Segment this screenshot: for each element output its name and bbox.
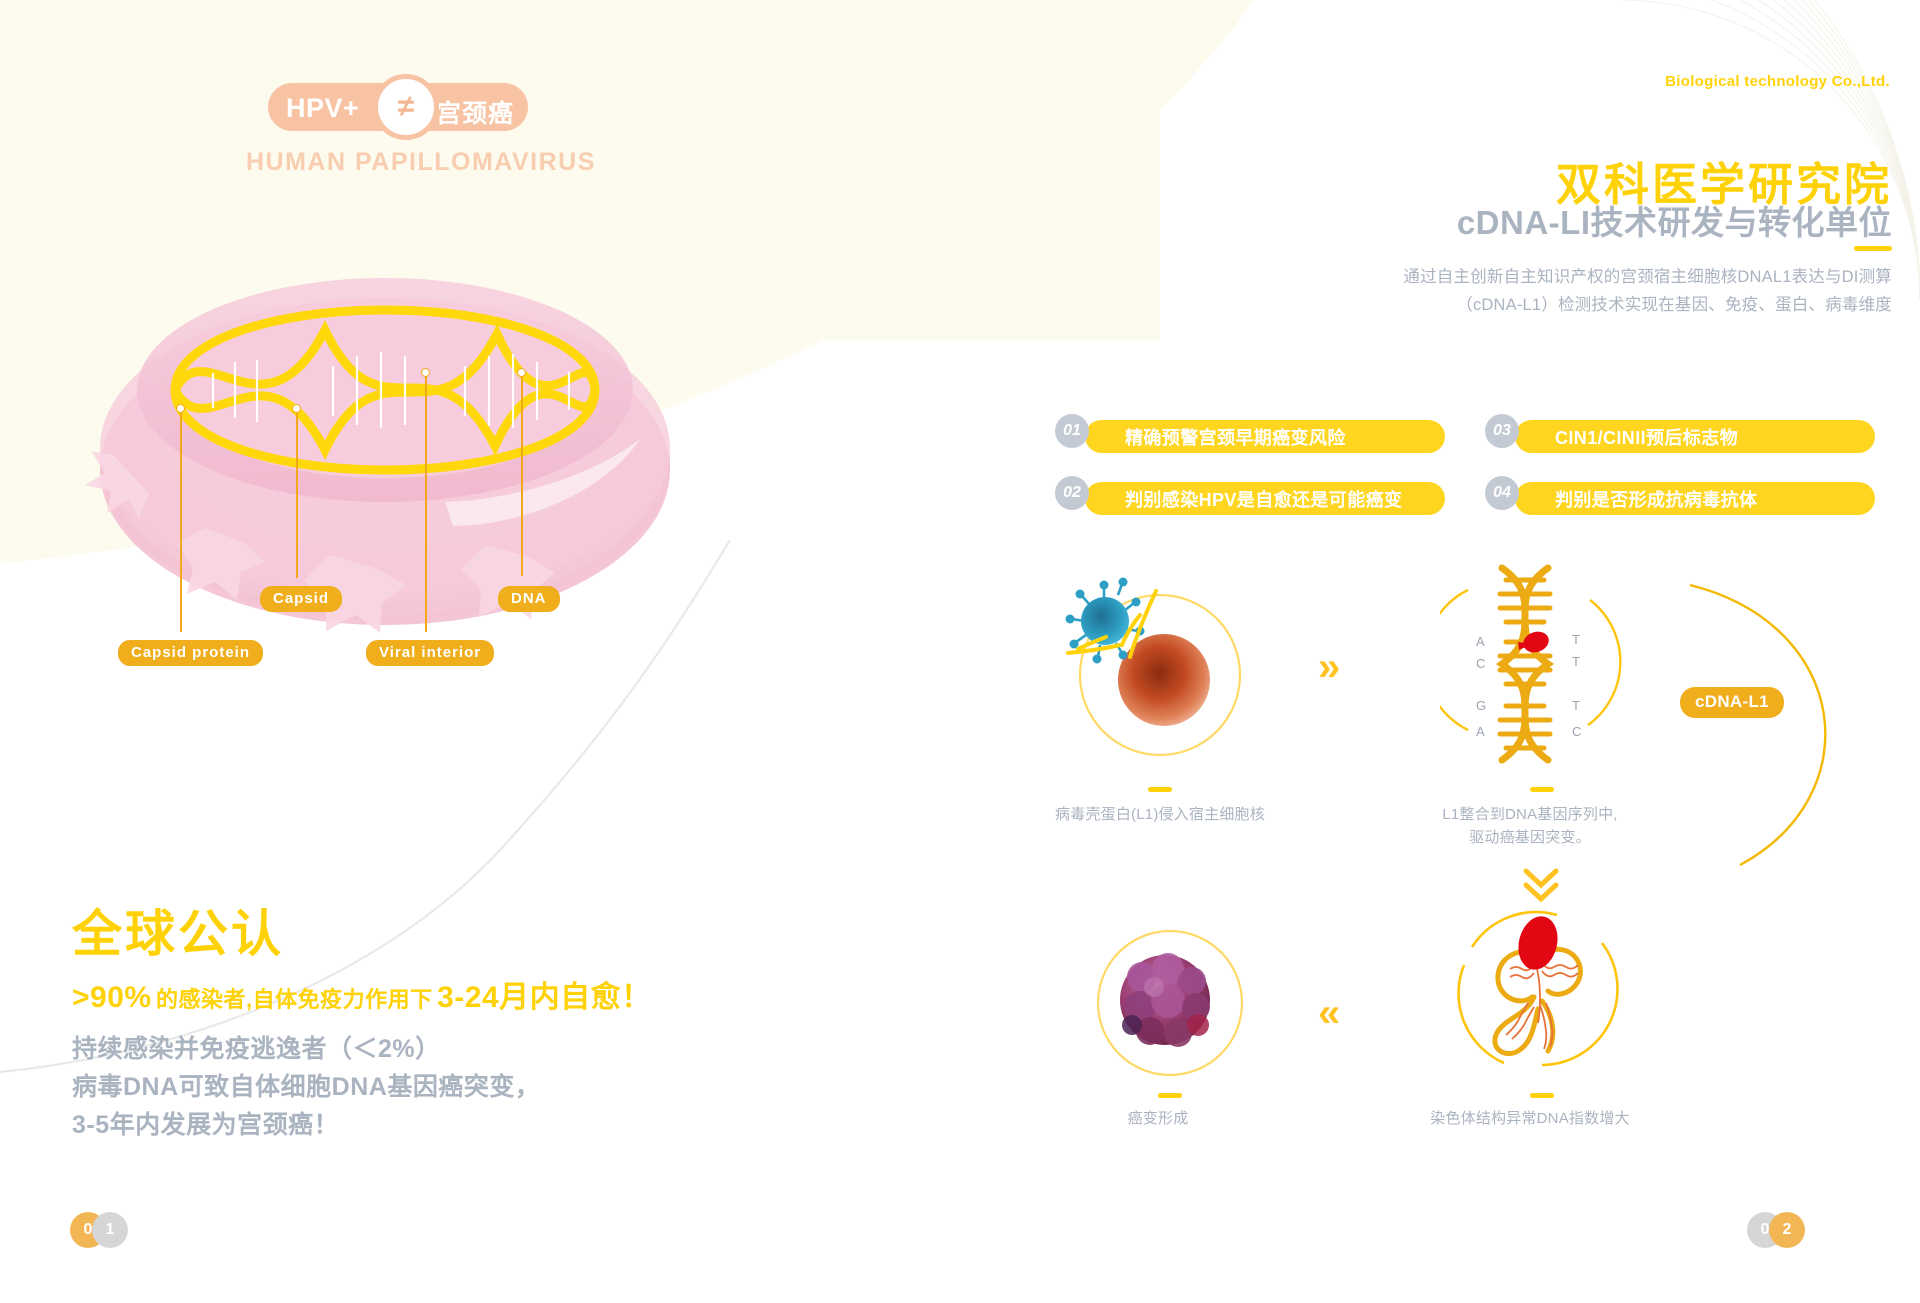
step4-dash xyxy=(1530,1093,1554,1098)
feature-number-03: 03 xyxy=(1485,414,1519,448)
page-number-left: 0 1 xyxy=(70,1212,190,1248)
feature-number-04: 04 xyxy=(1485,476,1519,510)
label-viral-interior[interactable]: Viral interior xyxy=(366,640,494,666)
institute-description-line1: 通过自主创新自主知识产权的宫颈宿主细胞核DNAL1表达与DI测算 xyxy=(1272,263,1892,291)
leader-line-capsid-protein xyxy=(180,412,182,632)
cdna-l1-badge[interactable]: cDNA-L1 xyxy=(1680,687,1784,718)
step2-caption-line1: L1整合到DNA基因序列中, xyxy=(1420,803,1640,826)
feature-item-01[interactable]: 精确预警宫颈早期癌变风险 01 xyxy=(1055,420,1445,453)
svg-text:T: T xyxy=(1572,698,1580,713)
svg-text:T: T xyxy=(1572,654,1580,669)
global-body-line1: 持续感染并免疫逃逸者（＜2%） xyxy=(72,1030,540,1068)
feature-item-04[interactable]: 判别是否形成抗病毒抗体 04 xyxy=(1485,482,1875,515)
feature-label-02: 判别感染HPV是自愈还是可能癌变 xyxy=(1125,486,1402,512)
process-diagram: 病毒壳蛋白(L1)侵入宿主细胞核 » xyxy=(1040,575,1900,975)
infographic-page: HPV+ 宫颈癌 ≠ HUMAN PAPILLOMAVIRUS Biologic… xyxy=(0,0,1920,1303)
hpv-subtitle: HUMAN PAPILLOMAVIRUS xyxy=(246,148,596,177)
feature-list: 精确预警宫颈早期癌变风险 01 判别感染HPV是自愈还是可能癌变 02 CIN1… xyxy=(1055,420,1890,535)
hpv-badge: HPV+ 宫颈癌 ≠ xyxy=(268,83,528,131)
global-body-line3: 3-5年内发展为宫颈癌！ xyxy=(72,1106,540,1144)
leader-line-capsid xyxy=(296,412,298,578)
step1-caption: 病毒壳蛋白(L1)侵入宿主细胞核 xyxy=(1030,803,1290,826)
page-number-right: 0 2 xyxy=(1747,1212,1867,1248)
feature-number-01: 01 xyxy=(1055,414,1089,448)
arrow-right-icon: » xyxy=(1318,647,1340,687)
feature-item-03[interactable]: CIN1/CINII预后标志物 03 xyxy=(1485,420,1875,453)
step3-dash xyxy=(1158,1093,1182,1098)
arrow-down-icon xyxy=(1518,865,1564,905)
step1-dash xyxy=(1148,787,1172,792)
step2-caption-line2: 驱动癌基因突变。 xyxy=(1420,826,1640,849)
institute-description: 通过自主创新自主知识产权的宫颈宿主细胞核DNAL1表达与DI测算 （cDNA-L… xyxy=(1272,263,1892,319)
step4-caption: 染色体结构异常DNA指数增大 xyxy=(1410,1107,1650,1130)
leader-line-dna xyxy=(521,376,523,576)
step2-dna-illustration: A C G A T T T C xyxy=(1440,560,1640,775)
leader-line-viral-interior xyxy=(425,376,427,632)
feature-pill-01: 精确预警宫颈早期癌变风险 xyxy=(1085,420,1445,453)
hpv-badge-left-text: HPV+ xyxy=(286,93,359,124)
svg-text:C: C xyxy=(1476,656,1485,671)
not-equal-icon: ≠ xyxy=(373,74,439,140)
global-stat-line: >90% 的感染者,自体免疫力作用下 3-24月内自愈！ xyxy=(72,972,652,1016)
global-stat-middle: 的感染者,自体免疫力作用下 xyxy=(156,987,433,1012)
label-capsid-protein[interactable]: Capsid protein xyxy=(118,640,263,666)
step4-chromosome-illustration xyxy=(1442,905,1642,1105)
global-stat-percent: >90% xyxy=(72,981,152,1014)
global-stat-duration: 3-24月内自愈！ xyxy=(437,981,652,1014)
global-headline: 全球公认 xyxy=(72,894,284,966)
step1-infection-illustration xyxy=(1060,575,1260,775)
step2-dash xyxy=(1530,787,1554,792)
page-right-digit-1: 2 xyxy=(1769,1212,1805,1248)
title-underline-rule xyxy=(1854,246,1892,251)
label-dna[interactable]: DNA xyxy=(498,586,560,612)
svg-text:A: A xyxy=(1476,724,1485,739)
feature-pill-03: CIN1/CINII预后标志物 xyxy=(1515,420,1875,453)
page-left-digit-1: 1 xyxy=(92,1212,128,1248)
feature-label-04: 判别是否形成抗病毒抗体 xyxy=(1555,486,1757,512)
feature-pill-02: 判别感染HPV是自愈还是可能癌变 xyxy=(1085,482,1445,515)
svg-text:A: A xyxy=(1476,634,1485,649)
global-body-text: 持续感染并免疫逃逸者（＜2%） 病毒DNA可致自体细胞DNA基因癌突变， 3-5… xyxy=(72,1030,540,1144)
step2-caption: L1整合到DNA基因序列中, 驱动癌基因突变。 xyxy=(1420,803,1640,849)
company-tagline: Biological technology Co.,Ltd. xyxy=(1665,73,1890,90)
global-body-line2: 病毒DNA可致自体细胞DNA基因癌突变， xyxy=(72,1068,540,1106)
feature-item-02[interactable]: 判别感染HPV是自愈还是可能癌变 02 xyxy=(1055,482,1445,515)
step3-caption: 癌变形成 xyxy=(1088,1107,1228,1130)
step3-tumor-illustration xyxy=(1080,915,1260,1095)
hpv-badge-right-text: 宫颈癌 xyxy=(436,94,514,130)
svg-text:T: T xyxy=(1572,632,1580,647)
institute-description-line2: （cDNA-L1）检测技术实现在基因、免疫、蛋白、病毒维度 xyxy=(1272,291,1892,319)
feature-label-01: 精确预警宫颈早期癌变风险 xyxy=(1125,424,1346,450)
arrow-left-icon: « xyxy=(1318,993,1340,1033)
svg-text:C: C xyxy=(1572,724,1581,739)
svg-text:G: G xyxy=(1476,698,1486,713)
feature-number-02: 02 xyxy=(1055,476,1089,510)
feature-pill-04: 判别是否形成抗病毒抗体 xyxy=(1515,482,1875,515)
institute-subtitle: cDNA-LI技术研发与转化单位 xyxy=(1457,196,1892,244)
label-capsid[interactable]: Capsid xyxy=(260,586,342,612)
feature-label-03: CIN1/CINII预后标志物 xyxy=(1555,424,1738,450)
